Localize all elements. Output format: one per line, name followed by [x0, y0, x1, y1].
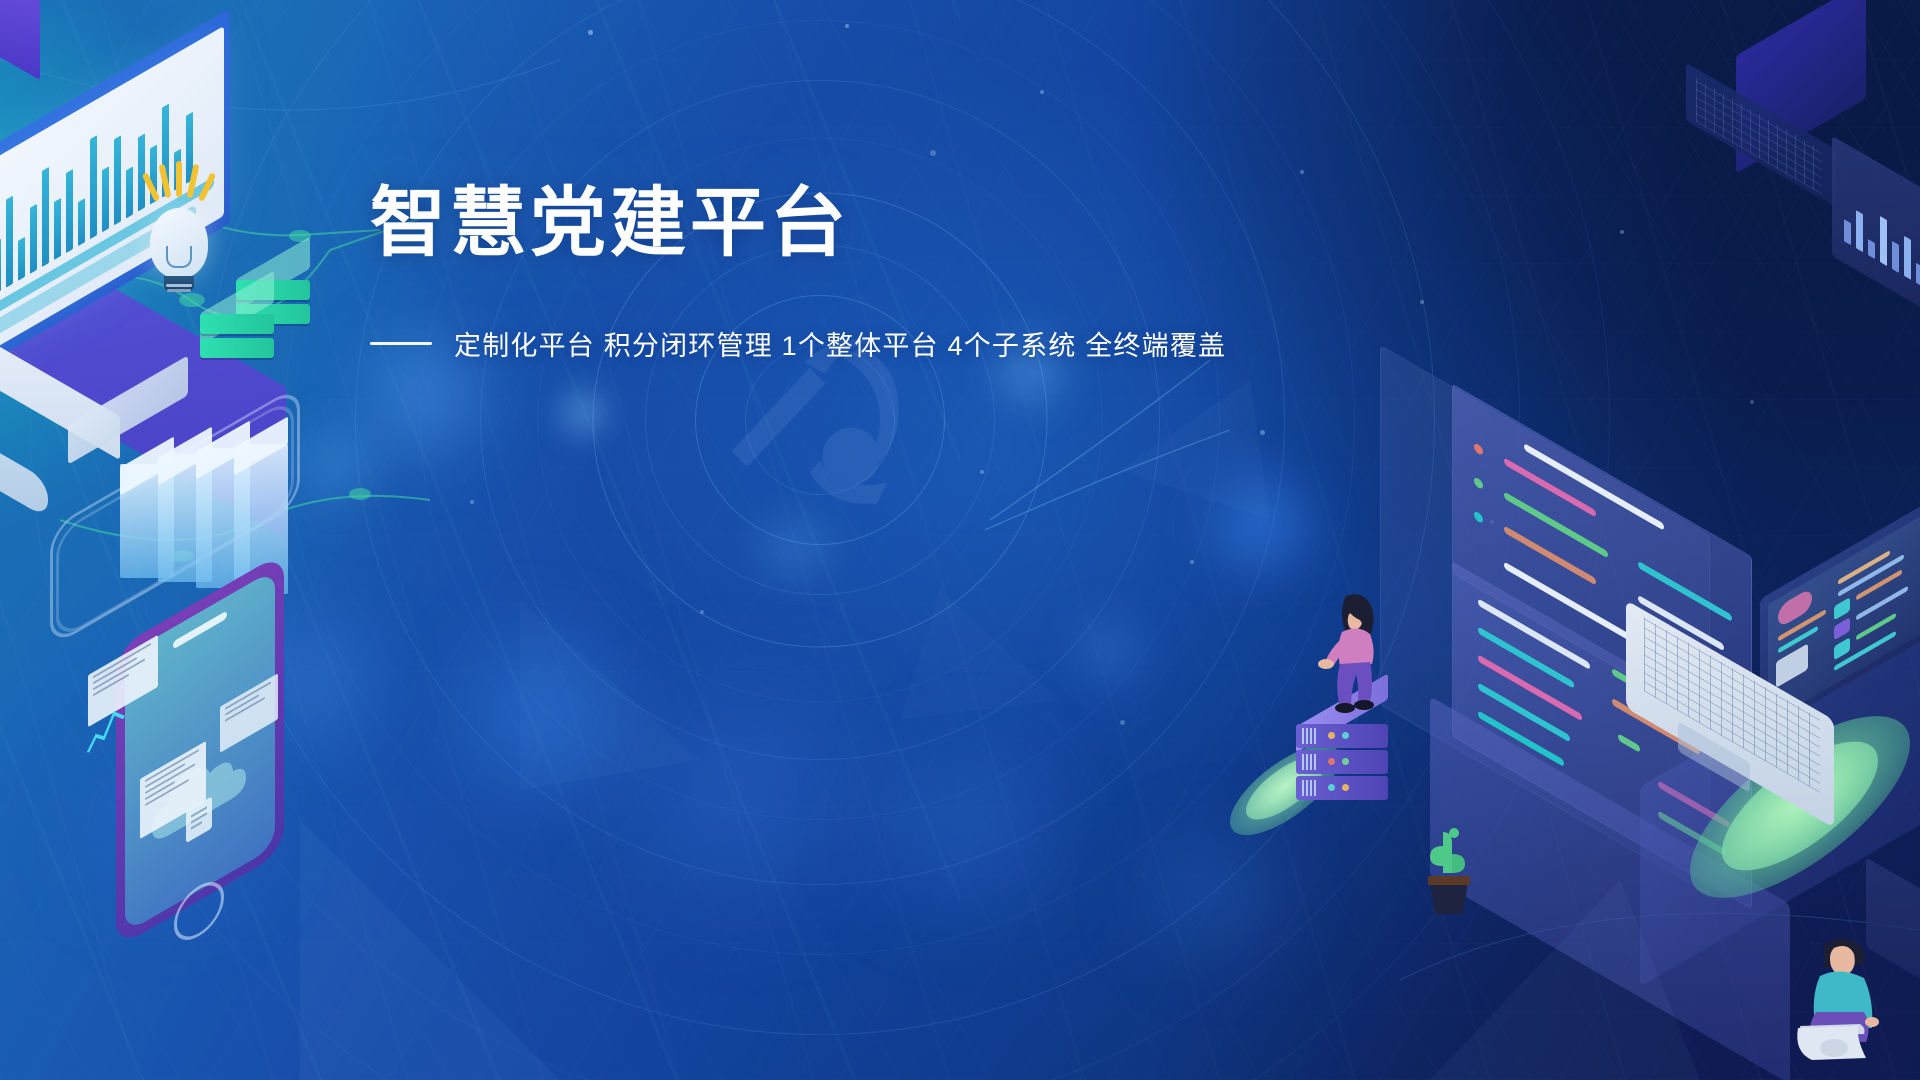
- smartphone-cloud: [0, 0, 1920, 1080]
- idea-lightbulb: [0, 0, 1920, 1080]
- glass-shards: [0, 0, 1920, 1080]
- subtitle-row: 定制化平台 积分闭环管理 1个整体平台 4个子系统 全终端覆盖: [370, 324, 1350, 363]
- hexagon-mesh-right: [0, 0, 1920, 1080]
- standing-person: [1316, 590, 1396, 725]
- hero-banner: 智慧党建平台 定制化平台 积分闭环管理 1个整体平台 4个子系统 全终端覆盖: [0, 0, 1920, 1080]
- hero-subtitle: 定制化平台 积分闭环管理 1个整体平台 4个子系统 全终端覆盖: [454, 324, 1226, 363]
- dashboard-panels: [0, 0, 1920, 1080]
- laptop-top-right: [0, 0, 1920, 1080]
- server-stack-left: [0, 0, 1920, 1080]
- party-emblem-watermark: [0, 0, 1920, 1080]
- purple-slab-top-left: [0, 0, 1920, 1080]
- em-dash-rule: [370, 342, 432, 345]
- isometric-monitor-chart: [0, 0, 1920, 1080]
- cactus-plant: [1414, 824, 1484, 921]
- light-streaks-teal: [0, 0, 960, 1080]
- circuit-traces: [0, 0, 1920, 1080]
- bar-chart-towers: [0, 0, 1920, 1080]
- page-title: 智慧党建平台: [370, 186, 1350, 262]
- glow-bokeh: [0, 0, 1920, 1080]
- hexagon-mesh-pattern: [0, 0, 1920, 1080]
- bottom-right-scene: [0, 0, 1920, 1080]
- concentric-ripple-rings: [0, 0, 1920, 1080]
- hero-text-block: 智慧党建平台 定制化平台 积分闭环管理 1个整体平台 4个子系统 全终端覆盖: [370, 186, 1350, 363]
- seated-person-laptop: [1790, 930, 1920, 1080]
- light-streaks: [0, 0, 1920, 1080]
